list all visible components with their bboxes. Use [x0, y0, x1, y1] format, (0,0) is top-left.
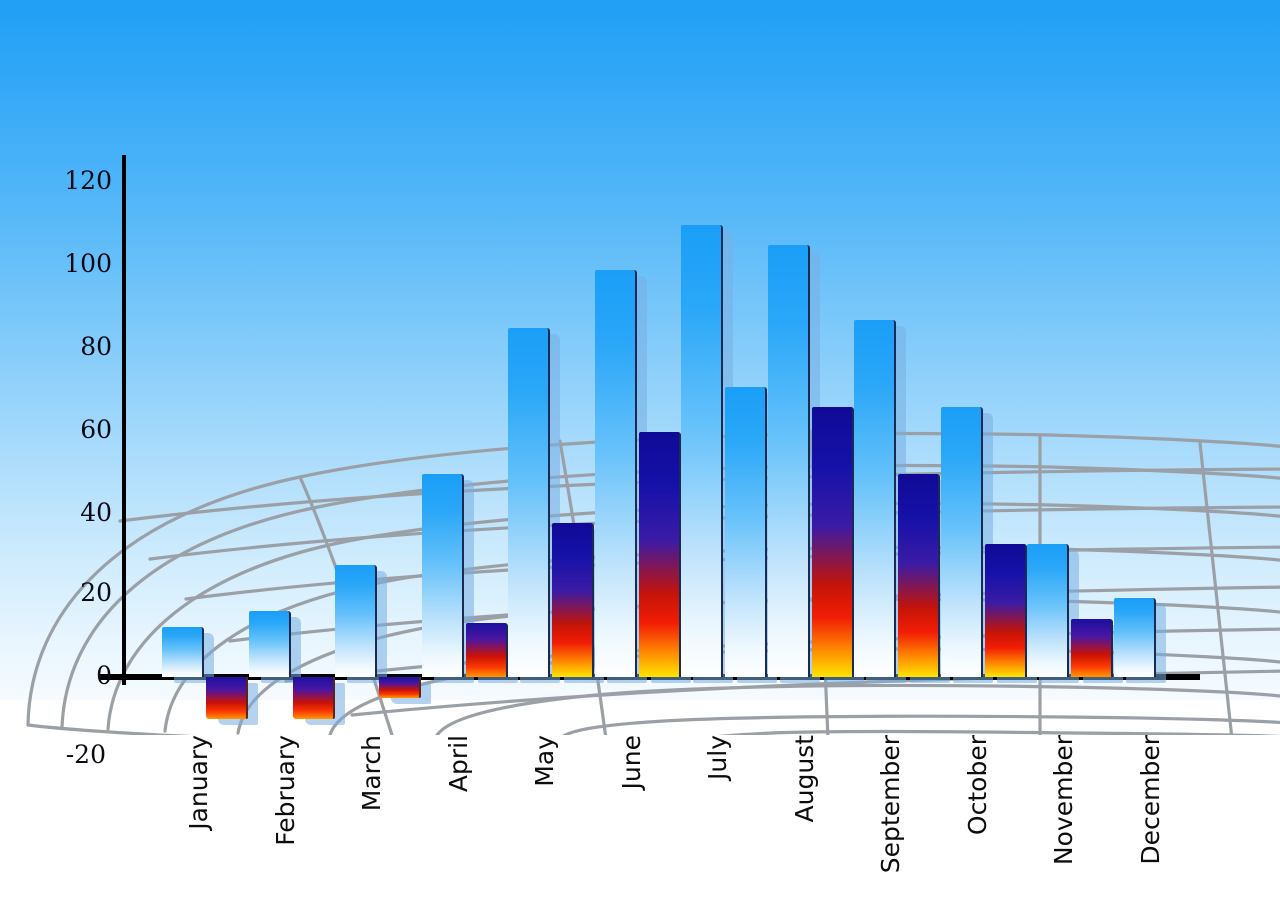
bar-face [422, 474, 464, 677]
bar-face [595, 270, 637, 677]
bar-april-series1[interactable] [422, 474, 462, 677]
bar-december-series1[interactable] [1114, 598, 1154, 677]
x-label-april: April [444, 735, 473, 792]
bar-may-series1[interactable] [508, 328, 548, 677]
x-label-october: October [963, 735, 992, 835]
bar-november-series2[interactable] [1071, 619, 1111, 677]
bar-march-series2[interactable] [379, 677, 419, 698]
bar-february-series2[interactable] [293, 677, 333, 719]
bar-january-series2[interactable] [206, 677, 246, 719]
bar-face [639, 432, 681, 677]
bar-face [1027, 544, 1069, 677]
bar-face [941, 407, 983, 677]
bar-june-series1[interactable] [595, 270, 635, 677]
bar-face [812, 407, 854, 677]
bar-face [1071, 619, 1113, 677]
x-label-december: December [1136, 735, 1165, 865]
bar-july-series1[interactable] [681, 225, 721, 677]
x-label-july: July [703, 735, 732, 780]
bar-face [854, 320, 896, 677]
bar-face [898, 474, 940, 677]
bar-april-series2[interactable] [466, 623, 506, 677]
x-label-may: May [530, 735, 559, 787]
bar-face [985, 544, 1027, 677]
chart-canvas: 120 100 80 60 40 20 0 -20 JanuaryFebruar… [0, 0, 1280, 905]
bar-october-series2[interactable] [985, 544, 1025, 677]
bar-september-series2[interactable] [898, 474, 938, 677]
x-label-november: November [1049, 735, 1078, 865]
bar-august-series2[interactable] [812, 407, 852, 677]
x-label-september: September [876, 735, 905, 873]
bar-face [249, 611, 291, 677]
bar-may-series2[interactable] [552, 523, 592, 677]
bar-face [335, 565, 377, 677]
bar-face [552, 523, 594, 677]
bar-face [466, 623, 508, 677]
bar-face [379, 677, 421, 698]
bar-july-series2[interactable] [725, 387, 765, 678]
bar-face [681, 225, 723, 677]
bar-face [508, 328, 550, 677]
bar-september-series1[interactable] [854, 320, 894, 677]
bar-november-series1[interactable] [1027, 544, 1067, 677]
bar-face [768, 245, 810, 677]
x-label-june: June [617, 735, 646, 789]
x-label-august: August [790, 735, 819, 823]
bar-face [1114, 598, 1156, 677]
bar-january-series1[interactable] [162, 627, 202, 677]
bar-february-series1[interactable] [249, 611, 289, 677]
bar-june-series2[interactable] [639, 432, 679, 677]
bar-face [725, 387, 767, 678]
bar-face [206, 677, 248, 719]
bar-face [293, 677, 335, 719]
bar-march-series1[interactable] [335, 565, 375, 677]
bar-face [162, 627, 204, 677]
plot-area: 120 100 80 60 40 20 0 -20 JanuaryFebruar… [0, 0, 1280, 905]
x-label-february: February [271, 735, 300, 846]
bar-october-series1[interactable] [941, 407, 981, 677]
bar-august-series1[interactable] [768, 245, 808, 677]
x-label-march: March [357, 735, 386, 811]
x-label-january: January [184, 735, 213, 830]
